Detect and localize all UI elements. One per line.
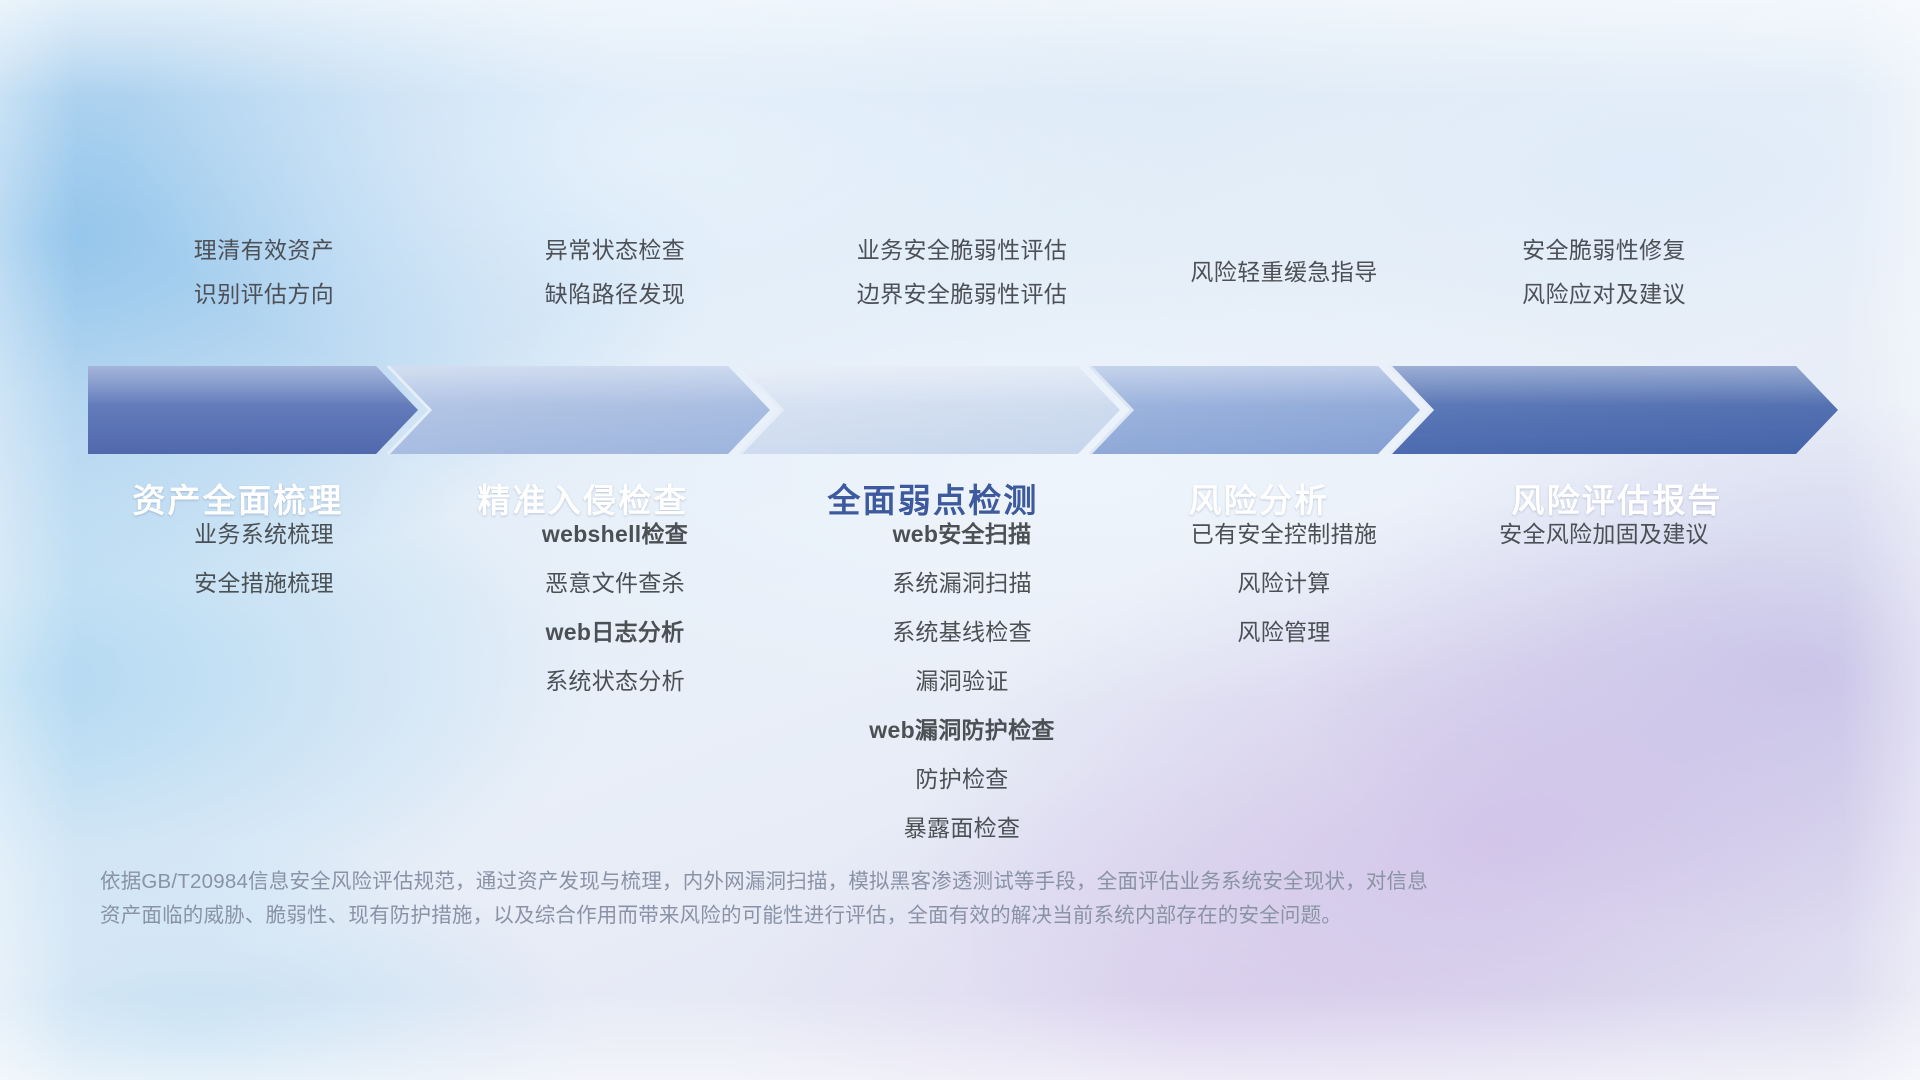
top-item: 业务安全脆弱性评估 xyxy=(790,228,1134,272)
detail-item: 安全措施梳理 xyxy=(88,559,440,608)
detail-item: 系统漏洞扫描 xyxy=(790,559,1134,608)
detail-item: 风险计算 xyxy=(1134,559,1434,608)
footer-note: 依据GB/T20984信息安全风险评估规范，通过资产发现与梳理，内外网漏洞扫描，… xyxy=(100,865,1610,933)
process-arrow-band: 资产全面梳理 精准入侵检查 全面弱点检测 风险分析 风险评估报告 xyxy=(88,366,1838,454)
top-item: 识别评估方向 xyxy=(88,272,440,316)
detail-item: 业务系统梳理 xyxy=(88,510,440,559)
arrow-segment-3-sheen xyxy=(740,366,1120,454)
detail-item: web漏洞防护检查 xyxy=(790,706,1134,755)
detail-item: 防护检查 xyxy=(790,755,1134,804)
top-item: 边界安全脆弱性评估 xyxy=(790,272,1134,316)
detail-item: web安全扫描 xyxy=(790,510,1134,559)
detail-item: web日志分析 xyxy=(440,608,790,657)
arrow-segment-2-sheen xyxy=(388,366,770,454)
bottom-details-stage-4: 已有安全控制措施 风险计算 风险管理 xyxy=(1134,510,1434,853)
footer-line-2: 资产面临的威胁、脆弱性、现有防护措施，以及综合作用而带来风险的可能性进行评估，全… xyxy=(100,899,1610,933)
top-descriptions-row: 理清有效资产 识别评估方向 异常状态检查 缺陷路径发现 业务安全脆弱性评估 边界… xyxy=(88,228,1918,316)
top-item: 缺陷路径发现 xyxy=(440,272,790,316)
top-item: 安全脆弱性修复 xyxy=(1434,228,1774,272)
bottom-details-stage-2: webshell检查 恶意文件查杀 web日志分析 系统状态分析 xyxy=(440,510,790,853)
detail-item: 系统状态分析 xyxy=(440,657,790,706)
top-descriptions-stage-1: 理清有效资产 识别评估方向 xyxy=(88,228,440,316)
detail-item: 系统基线检查 xyxy=(790,608,1134,657)
detail-item: 安全风险加固及建议 xyxy=(1434,510,1774,559)
top-item: 理清有效资产 xyxy=(88,228,440,272)
bottom-details-row: 业务系统梳理 安全措施梳理 webshell检查 恶意文件查杀 web日志分析 … xyxy=(88,510,1918,853)
footer-line-1: 依据GB/T20984信息安全风险评估规范，通过资产发现与梳理，内外网漏洞扫描，… xyxy=(100,865,1610,899)
arrow-band-svg xyxy=(88,366,1838,454)
top-item: 风险轻重缓急指导 xyxy=(1134,250,1434,294)
top-descriptions-stage-5: 安全脆弱性修复 风险应对及建议 xyxy=(1434,228,1774,316)
bottom-details-stage-1: 业务系统梳理 安全措施梳理 xyxy=(88,510,440,853)
top-item: 风险应对及建议 xyxy=(1434,272,1774,316)
diagram-content: 理清有效资产 识别评估方向 异常状态检查 缺陷路径发现 业务安全脆弱性评估 边界… xyxy=(0,0,1920,1080)
detail-item: 恶意文件查杀 xyxy=(440,559,790,608)
bottom-details-stage-5: 安全风险加固及建议 xyxy=(1434,510,1774,853)
detail-item: 暴露面检查 xyxy=(790,804,1134,853)
detail-item: 漏洞验证 xyxy=(790,657,1134,706)
slide-canvas: 理清有效资产 识别评估方向 异常状态检查 缺陷路径发现 业务安全脆弱性评估 边界… xyxy=(0,0,1920,1080)
arrow-segment-1-sheen xyxy=(88,366,418,454)
detail-item: webshell检查 xyxy=(440,510,790,559)
top-descriptions-stage-3: 业务安全脆弱性评估 边界安全脆弱性评估 xyxy=(790,228,1134,316)
arrow-segment-4-sheen xyxy=(1090,366,1420,454)
top-descriptions-stage-2: 异常状态检查 缺陷路径发现 xyxy=(440,228,790,316)
top-descriptions-stage-4: 风险轻重缓急指导 xyxy=(1134,228,1434,316)
arrow-segment-5-sheen xyxy=(1390,366,1838,454)
detail-item: 已有安全控制措施 xyxy=(1134,510,1434,559)
detail-item: 风险管理 xyxy=(1134,608,1434,657)
bottom-details-stage-3: web安全扫描 系统漏洞扫描 系统基线检查 漏洞验证 web漏洞防护检查 防护检… xyxy=(790,510,1134,853)
top-item: 异常状态检查 xyxy=(440,228,790,272)
